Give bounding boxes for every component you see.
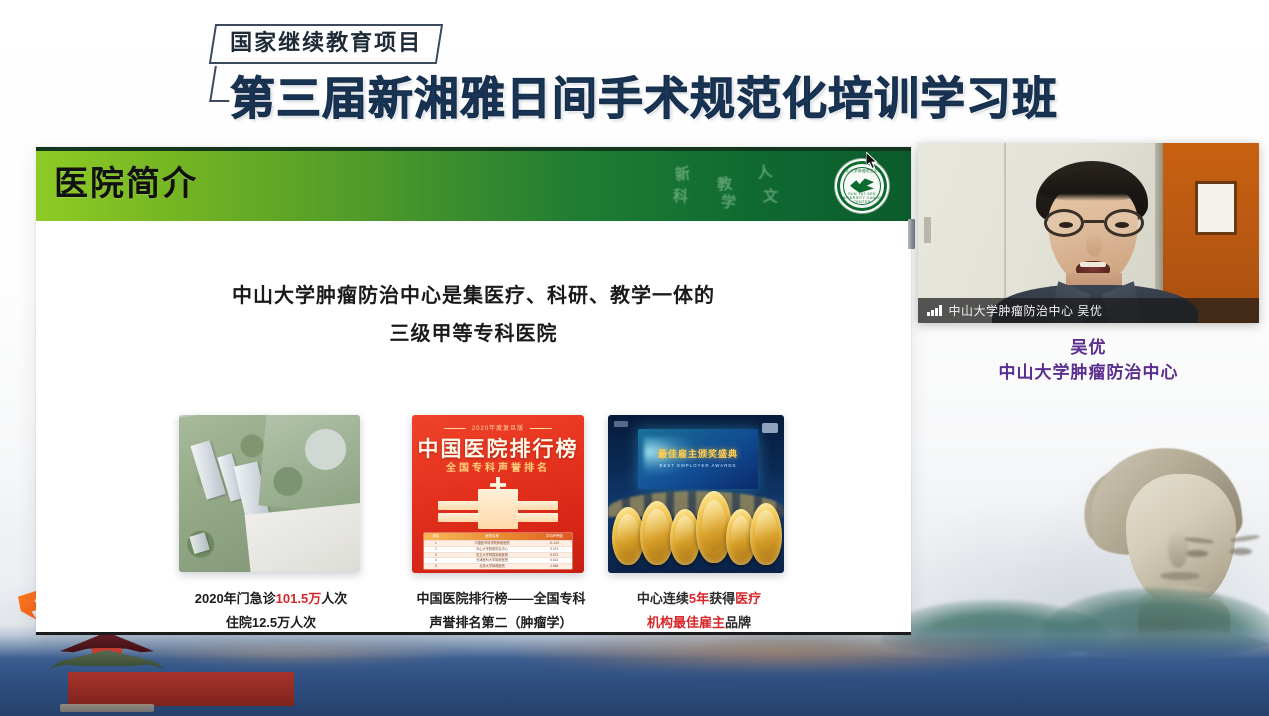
glasses-lens (1044, 209, 1084, 237)
calligraphy-glyph: 人 (755, 160, 773, 183)
speaker-eye (1115, 222, 1129, 228)
trophy-row (608, 481, 784, 565)
caption-line: 声誉排名第二（肿瘤学） (396, 611, 606, 635)
caption-text: 中心连续 (637, 591, 689, 606)
caption-highlight: 机构最佳雇主 (647, 615, 725, 630)
slide-side-handle[interactable] (908, 219, 915, 249)
score-cell: 9.473 (536, 547, 572, 552)
screen-root: 国家继续教育项目 第三届新湘雅日间手术规范化培训学习班 医院简介 新 科 教 学… (0, 0, 1269, 716)
calligraphy-glyph: 新 (674, 162, 691, 185)
card-ranking: 2020年度复旦版 中国医院排行榜 全国专科声誉排名 (412, 415, 584, 573)
wall-seam (1004, 143, 1006, 323)
poster-ranking-table: 排名 医院名称 平均声誉值 1 中国医学科学院肿瘤医院 11.125 2 (424, 533, 572, 569)
glasses-lens (1104, 209, 1144, 237)
card-awards: 最佳雇主颁奖盛典 BEST EMPLOYER AWARDS (608, 415, 784, 573)
table-header-cell: 平均声誉值 (536, 533, 572, 540)
china-hospital-ranking-poster-image: 2020年度复旦版 中国医院排行榜 全国专科声誉排名 (412, 415, 584, 573)
speaker-eye (1059, 222, 1073, 228)
caption-awards: 中心连续5年获得医疗 机构最佳雇主品牌 (606, 587, 792, 635)
pavilion-base (60, 704, 154, 712)
best-employer-award-ceremony-image: 最佳雇主颁奖盛典 BEST EMPLOYER AWARDS (608, 415, 784, 573)
wall-switch (924, 217, 931, 243)
caption-ranking: 中国医院排行榜——全国专科 声誉排名第二（肿瘤学） (396, 587, 606, 635)
speaker-video-feed[interactable]: 中山大学肿瘤防治中心 吴优 (918, 143, 1259, 323)
hospital-cell: 复旦大学附属肿瘤医院 (448, 553, 537, 558)
speaker-nose (1086, 233, 1102, 257)
rank-cell: 2 (424, 547, 448, 552)
caption-highlight: 5年 (689, 591, 709, 606)
pavilion-column (118, 672, 294, 706)
video-name-overlay: 中山大学肿瘤防治中心 吴优 (918, 298, 1259, 323)
program-badge: 国家继续教育项目 (209, 24, 443, 64)
poster-building-wing (516, 513, 558, 522)
caption-line: 中心连续5年获得医疗 (606, 587, 792, 611)
logo-ring-text-top: 中山大学肿瘤防治中心 (837, 169, 887, 174)
caption-line: 机构最佳雇主品牌 (606, 611, 792, 635)
statue-brow (1230, 534, 1260, 543)
card-campus (179, 415, 360, 572)
calligraphy-glyph: 学 (720, 190, 737, 212)
caption-text: 人次 (321, 591, 347, 606)
table-header-row: 排名 医院名称 平均声誉值 (424, 533, 572, 540)
statue-eye (1186, 550, 1208, 557)
calligraphy-watermark: 新 科 教 学 人 文 (671, 159, 801, 215)
gold-trophy (640, 501, 674, 565)
hospital-cell: 天津医科大学肿瘤医院 (448, 558, 537, 563)
statue-brow (1184, 536, 1214, 544)
table-row: 4 天津医科大学肿瘤医院 6.610 (424, 557, 572, 563)
hospital-cell: 中国医学科学院肿瘤医院 (448, 541, 537, 546)
score-cell: 11.125 (536, 541, 572, 546)
stage-led-screen: 最佳雇主颁奖盛典 BEST EMPLOYER AWARDS (638, 429, 758, 489)
photo-corner-badge (762, 423, 778, 433)
rank-cell: 4 (424, 558, 448, 563)
caption-line: 住院12.5万人次 (156, 611, 386, 635)
speaker-name: 吴优 (918, 336, 1259, 361)
presentation-slide[interactable]: 医院简介 新 科 教 学 人 文 中山大学肿瘤防治中心 SUN YAT-SEN … (36, 147, 911, 635)
image-card-row: 2020年度复旦版 中国医院排行榜 全国专科声誉排名 (36, 415, 911, 585)
rank-cell: 3 (424, 553, 448, 558)
table-row: 3 复旦大学附属肿瘤医院 8.873 (424, 552, 572, 558)
poster-subtitle: 全国专科声誉排名 (412, 459, 584, 474)
lead-line-2: 三级甲等专科医院 (36, 315, 911, 353)
table-row: 2 中山大学肿瘤防治中心 9.473 (424, 546, 572, 552)
caption-highlight: 医疗 (735, 591, 761, 606)
poster-building-graphic (436, 489, 560, 529)
building-block (189, 532, 210, 554)
water-reflection-glow (520, 632, 1040, 672)
statue-mouth (1160, 572, 1200, 580)
water-reflection-glow (120, 640, 460, 666)
statue-eye (1230, 548, 1252, 555)
glasses-bridge (1084, 220, 1104, 223)
slide-section-title: 医院简介 (54, 164, 198, 205)
aerial-campus-collage-image (179, 415, 360, 572)
photo-corner-tag (614, 421, 628, 427)
table-row: 1 中国医学科学院肿瘤医院 11.125 (424, 540, 572, 546)
score-cell: 8.873 (536, 553, 572, 558)
caption-text: 获得 (709, 591, 735, 606)
speaker-teeth (1080, 262, 1106, 267)
table-header-cell: 排名 (424, 533, 448, 540)
rank-cell: 5 (424, 564, 448, 569)
aerial-panel (258, 415, 360, 516)
score-cell: 4.668 (536, 564, 572, 569)
pavilion-column (138, 672, 143, 706)
rank-cell: 1 (424, 541, 448, 546)
poster-building-wing (438, 513, 480, 522)
caption-highlight: 101.5万 (276, 591, 322, 606)
lead-line-1: 中山大学肿瘤防治中心是集医疗、科研、教学一体的 (232, 285, 715, 307)
speaker-caption-block: 吴优 中山大学肿瘤防治中心 (918, 336, 1259, 385)
caption-text: 2020年门急诊 (195, 591, 276, 606)
caption-campus: 2020年门急诊101.5万人次 住院12.5万人次 手术量6.02万台 (156, 587, 386, 635)
video-overlay-label: 中山大学肿瘤防治中心 吴优 (949, 302, 1103, 319)
score-cell: 6.610 (536, 558, 572, 563)
caption-row: 2020年门急诊101.5万人次 住院12.5万人次 手术量6.02万台 中国医… (36, 587, 911, 635)
poster-building-wing (438, 501, 480, 510)
page-title: 第三届新湘雅日间手术规范化培训学习班 (230, 74, 1058, 124)
signal-bars-icon (927, 305, 942, 316)
ceremony-title: 最佳雇主颁奖盛典 (638, 447, 758, 460)
slide-header-bar: 医院简介 新 科 教 学 人 文 中山大学肿瘤防治中心 SUN YAT-SEN … (36, 151, 911, 221)
university-logo-icon: 中山大学肿瘤防治中心 SUN YAT-SEN UNIVERSITY CANCER… (835, 159, 889, 213)
statue-nose (1168, 530, 1188, 568)
calligraphy-glyph: 文 (762, 185, 778, 207)
slide-lead-text: 中山大学肿瘤防治中心是集医疗、科研、教学一体的 三级甲等专科医院 (36, 277, 911, 353)
caption-text: 品牌 (725, 615, 751, 630)
poster-building-wing (516, 501, 558, 510)
table-row: 5 北京大学肿瘤医院 4.668 (424, 563, 572, 569)
speaker-affiliation: 中山大学肿瘤防治中心 (918, 361, 1259, 386)
calligraphy-glyph: 科 (672, 185, 688, 207)
poster-eyebrow: 2020年度复旦版 (472, 423, 524, 432)
mouse-cursor-icon (866, 152, 879, 170)
table-header-cell: 医院名称 (448, 533, 537, 540)
page-header: 国家继续教育项目 第三届新湘雅日间手术规范化培训学习班 (206, 24, 1106, 124)
logo-ring-text-bottom: SUN YAT-SEN UNIVERSITY CANCER CENTER (837, 192, 887, 204)
program-badge-label: 国家继续教育项目 (230, 31, 422, 56)
hospital-cell: 中山大学肿瘤防治中心 (448, 547, 537, 552)
caption-line: 2020年门急诊101.5万人次 (156, 587, 386, 611)
slide-content: 中山大学肿瘤防治中心是集医疗、科研、教学一体的 三级甲等专科医院 (36, 225, 911, 635)
hospital-cell: 北京大学肿瘤医院 (448, 564, 537, 569)
poster-building-center (478, 489, 518, 529)
door-notice-paper (1195, 181, 1237, 235)
gold-trophy (750, 503, 782, 565)
ceremony-subtitle: BEST EMPLOYER AWARDS (638, 463, 758, 468)
chinese-pavilion-illustration (48, 632, 166, 716)
caption-line: 中国医院排行榜——全国专科 (396, 587, 606, 611)
